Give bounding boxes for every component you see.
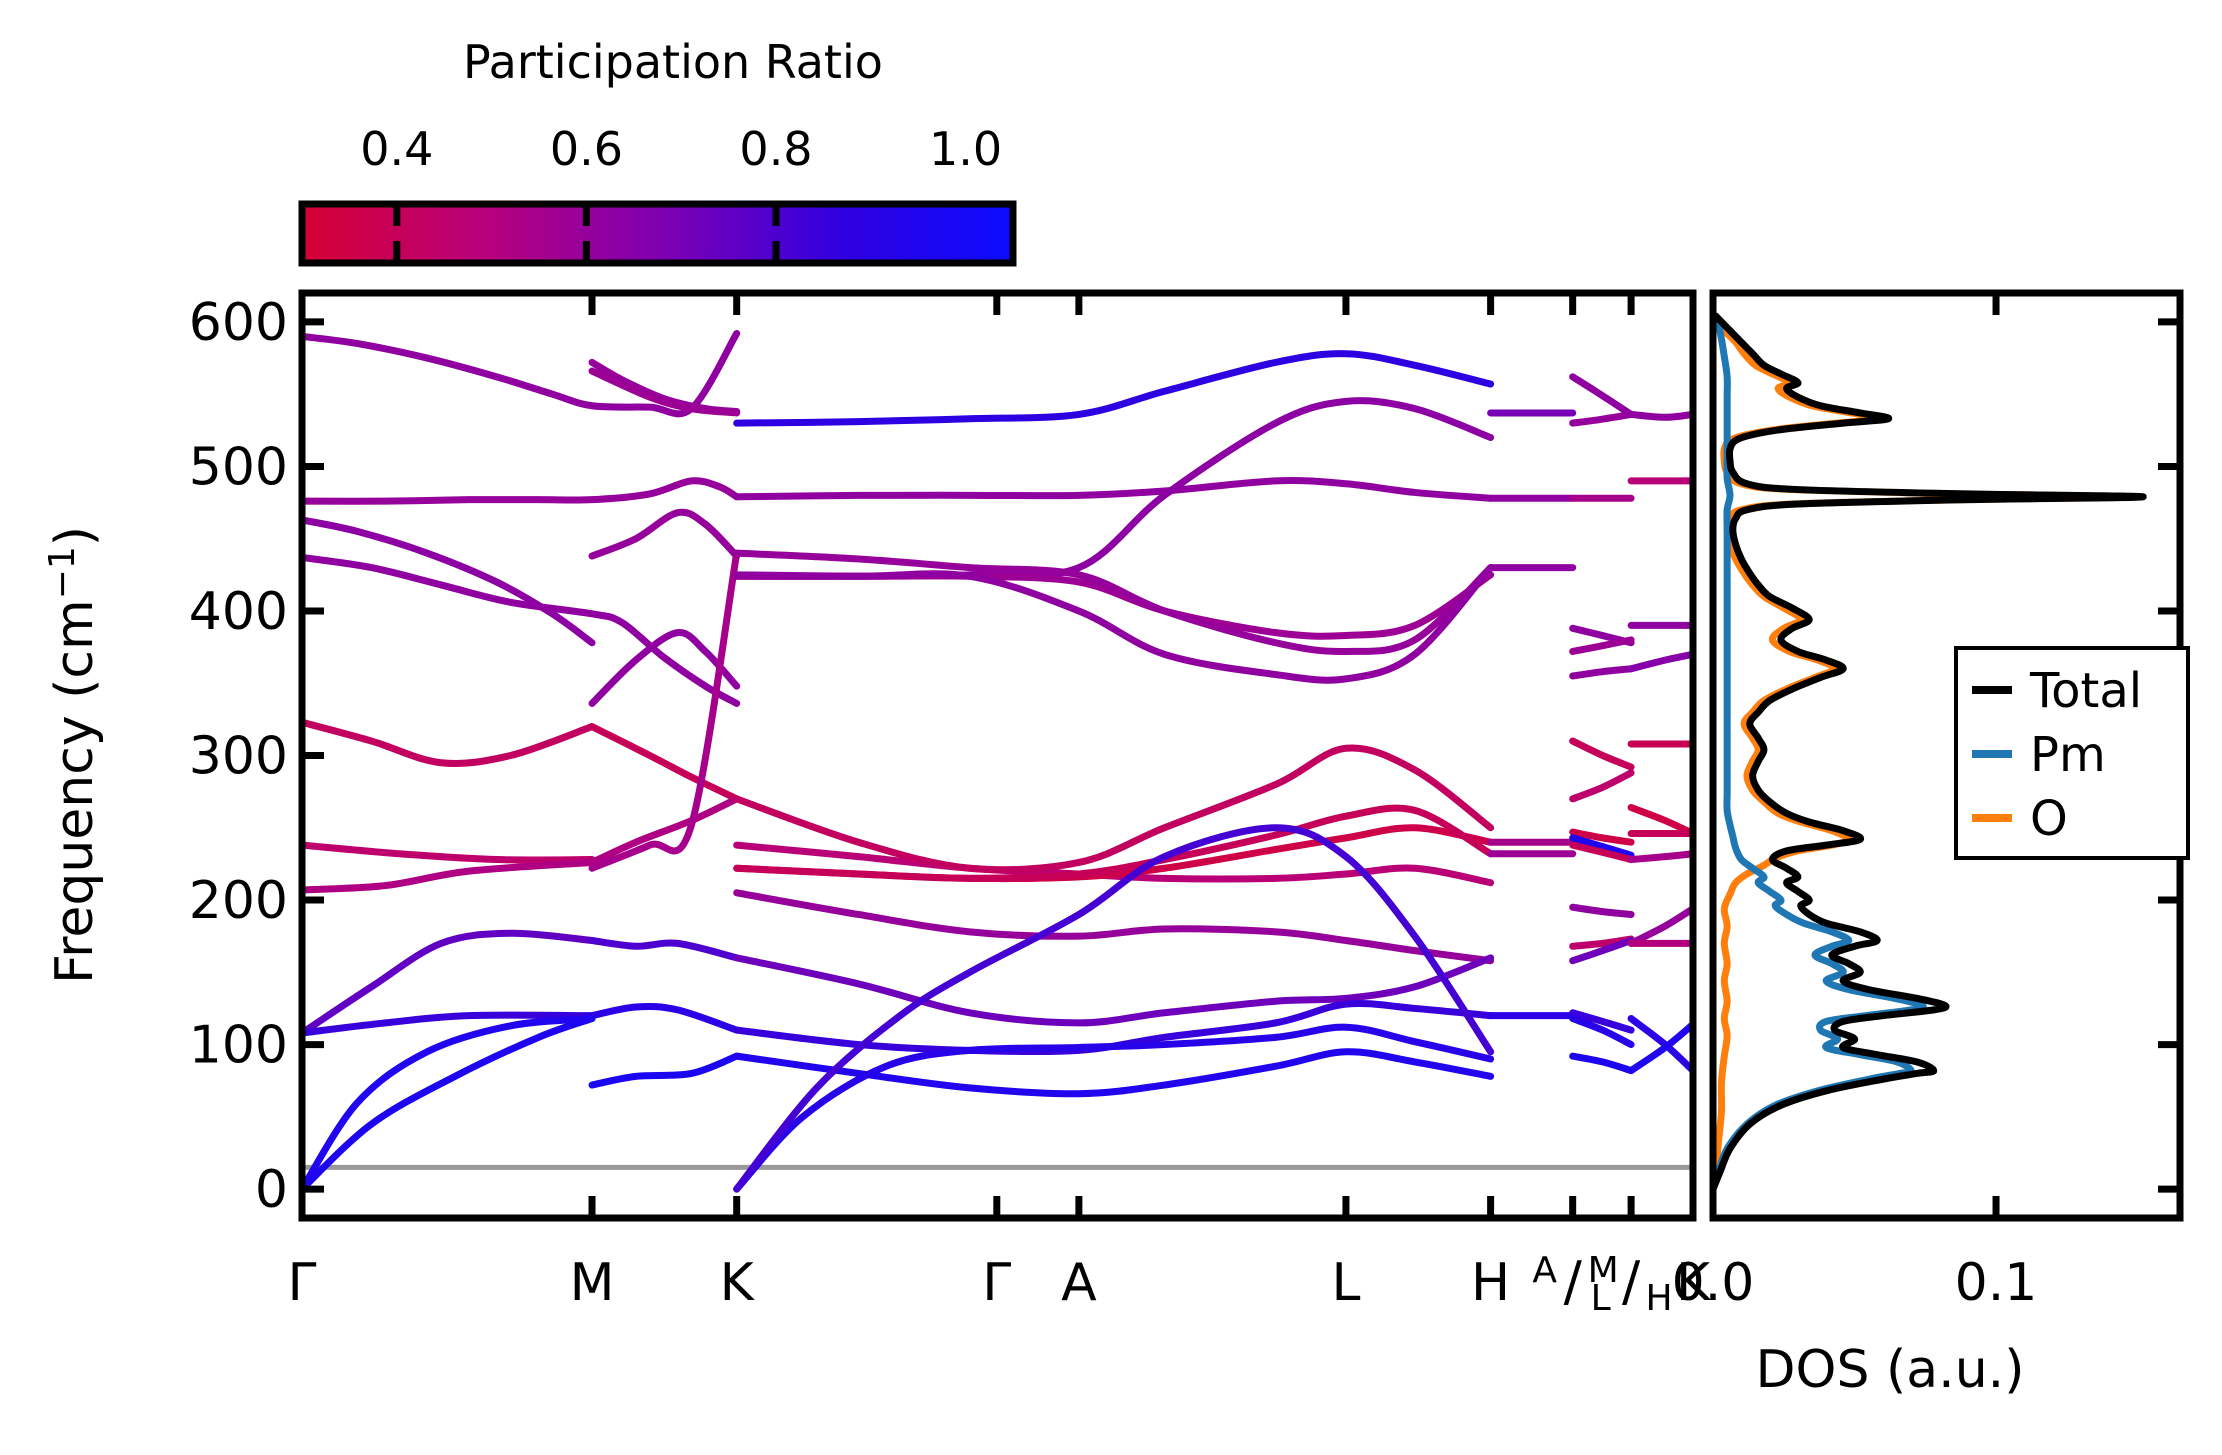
- colorbar-title: Participation Ratio: [463, 35, 883, 89]
- colorbar-tick-label: 1.0: [929, 122, 1002, 176]
- fraction-numerator: A: [1532, 1250, 1557, 1291]
- band-y-tick-label: 600: [189, 293, 288, 353]
- dos-x-tick-label: 0.0: [1672, 1253, 1755, 1313]
- fraction-numerator: M: [1588, 1250, 1619, 1291]
- band-y-tick-label: 500: [189, 437, 288, 497]
- band-y-tick-label: 0: [255, 1160, 288, 1220]
- legend-label-o: O: [2030, 791, 2068, 847]
- band-x-tick-label: H: [1471, 1253, 1510, 1313]
- band-x-tick-label: A: [1061, 1253, 1097, 1313]
- dos-x-tick-label: 0.1: [1955, 1253, 2038, 1313]
- colorbar-tick-label: 0.6: [550, 122, 623, 176]
- phonon-band-structure-and-dos-figure: Participation Ratio 0.40.60.81.0 0100200…: [0, 0, 2222, 1455]
- band-y-tick-label: 400: [189, 582, 288, 642]
- band-curve: [1631, 414, 1693, 417]
- y-label-close: ): [45, 526, 105, 546]
- band-x-tick-label: K: [720, 1253, 756, 1313]
- band-x-tick-label: L: [1331, 1253, 1360, 1313]
- dos-x-axis-label: DOS (a.u.): [1756, 1340, 2025, 1400]
- colorbar: [302, 204, 1013, 263]
- y-label-main: Frequency (cm: [45, 599, 105, 984]
- colorbar-gradient: [302, 204, 1013, 263]
- colorbar-tick-label: 0.4: [360, 122, 433, 176]
- dos-legend: TotalPmO: [1956, 648, 2188, 858]
- legend-label-pm: Pm: [2030, 727, 2106, 783]
- band-x-tick-label: M: [570, 1253, 615, 1313]
- band-y-tick-label: 100: [189, 1016, 288, 1076]
- fraction-slash: /: [1564, 1250, 1583, 1313]
- fraction-denominator: H: [1646, 1278, 1673, 1319]
- y-label-exponent: −1: [42, 546, 83, 599]
- fraction-slash: /: [1622, 1250, 1641, 1313]
- legend-label-total: Total: [2029, 663, 2142, 719]
- band-x-tick-label: Γ: [982, 1253, 1011, 1313]
- colorbar-tick-label: 0.8: [739, 122, 812, 176]
- band-x-tick-label: Γ: [288, 1253, 317, 1313]
- band-y-tick-label: 300: [189, 727, 288, 787]
- band-y-tick-label: 200: [189, 871, 288, 931]
